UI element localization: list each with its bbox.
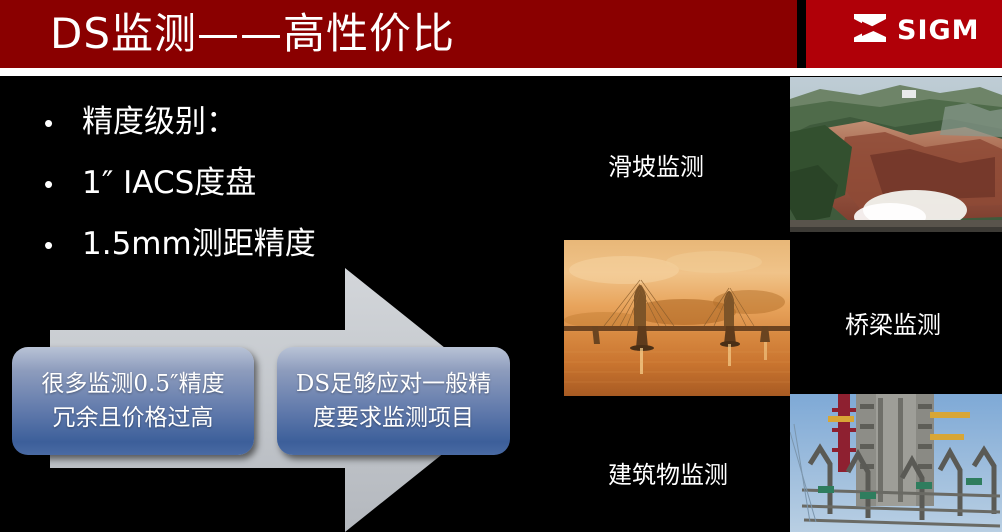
bullet-text-0: 精度级别： (82, 100, 237, 144)
callout-box-right: DS足够应对一般精 度要求监测项目 (277, 347, 510, 455)
bridge-photo (564, 240, 790, 396)
logo-text: SIGM (897, 15, 980, 46)
bullet-marker-icon: • (44, 162, 82, 206)
bullet-marker-icon: • (44, 101, 82, 145)
callout-right-line1: DS足够应对一般精 (288, 367, 499, 401)
bullet-marker-icon: • (44, 223, 82, 267)
slide-root: DS监测——高性价比 SIGM • 精度级别： • 1″ IACS度盘 • 1.… (0, 0, 1002, 532)
building-photo (790, 394, 1002, 532)
callout-box-left: 很多监测0.5″精度 冗余且价格过高 (12, 347, 254, 455)
bridge-caption: 桥梁监测 (845, 305, 941, 340)
page-title: DS监测——高性价比 (50, 4, 455, 64)
header-divider (0, 68, 1002, 76)
bullet-item-1: • 1″ IACS度盘 (44, 161, 514, 206)
bullet-item-2: • 1.5mm测距精度 (44, 222, 514, 267)
bullet-text-2: 1.5mm测距精度 (82, 222, 316, 266)
brand-logo: SIGM (850, 8, 980, 53)
callout-left-line2: 冗余且价格过高 (33, 401, 232, 435)
landslide-photo (790, 77, 1002, 232)
bullet-list: • 精度级别： • 1″ IACS度盘 • 1.5mm测距精度 (44, 100, 514, 283)
landslide-caption: 滑坡监测 (608, 147, 704, 182)
sigma-arrow-logo-icon (850, 8, 890, 53)
building-caption: 建筑物监测 (608, 455, 728, 490)
callout-right-line2: 度要求监测项目 (288, 401, 499, 435)
bullet-text-1: 1″ IACS度盘 (82, 161, 256, 205)
callout-left-line1: 很多监测0.5″精度 (33, 367, 232, 401)
callout-left-text: 很多监测0.5″精度 冗余且价格过高 (25, 367, 240, 435)
bullet-item-0: • 精度级别： (44, 100, 514, 145)
callout-right-text: DS足够应对一般精 度要求监测项目 (280, 367, 507, 435)
